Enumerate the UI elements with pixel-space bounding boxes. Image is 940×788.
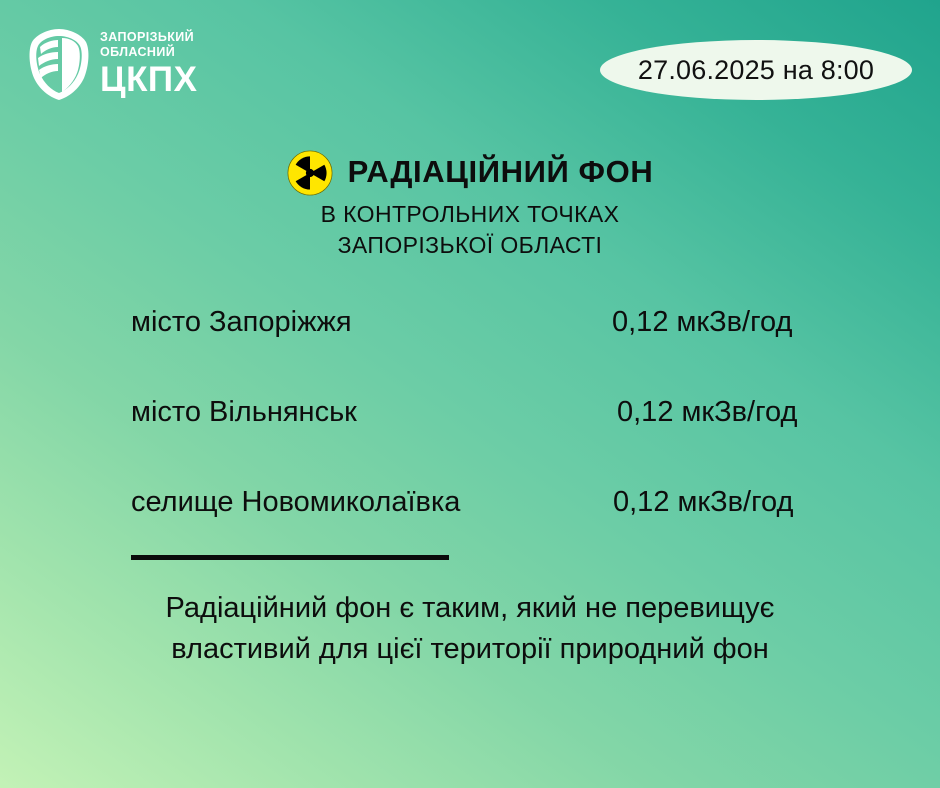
brand-acronym: ЦКПХ xyxy=(100,62,197,97)
reading-row: місто Запоріжжя 0,12 мкЗв/год xyxy=(0,296,940,386)
footer-note: Радіаційний фон є таким, який не перевищ… xyxy=(0,588,940,670)
brand-logo-text: ЗАПОРІЗЬКИЙ ОБЛАСНИЙ ЦКПХ xyxy=(100,26,197,97)
reading-place: місто Вільнянськ xyxy=(131,396,357,429)
date-badge: 27.06.2025 на 8:00 xyxy=(600,40,912,100)
radiation-trefoil-icon xyxy=(287,150,333,196)
title-row: РАДІАЦІЙНИЙ ФОН xyxy=(0,148,940,196)
section-divider xyxy=(131,555,449,560)
brand-line-1: ЗАПОРІЗЬКИЙ xyxy=(100,30,197,45)
reading-row: селище Новомиколаївка 0,12 мкЗв/год xyxy=(0,476,940,566)
reading-value: 0,12 мкЗв/год xyxy=(617,396,797,429)
footer-note-line-2: властивий для цієї території природний ф… xyxy=(0,629,940,670)
page-subtitle-line-1: В КОНТРОЛЬНИХ ТОЧКАХ xyxy=(0,200,940,230)
reading-value: 0,12 мкЗв/год xyxy=(613,486,793,519)
reading-row: місто Вільнянськ 0,12 мкЗв/год xyxy=(0,386,940,476)
poster-title-block: РАДІАЦІЙНИЙ ФОН В КОНТРОЛЬНИХ ТОЧКАХ ЗАП… xyxy=(0,148,940,261)
date-badge-text: 27.06.2025 на 8:00 xyxy=(638,55,874,86)
radiation-background-poster: ЗАПОРІЗЬКИЙ ОБЛАСНИЙ ЦКПХ 27.06.2025 на … xyxy=(0,0,940,788)
page-subtitle-line-2: ЗАПОРІЗЬКОЇ ОБЛАСТІ xyxy=(0,231,940,261)
reading-place: місто Запоріжжя xyxy=(131,306,352,339)
footer-note-line-1: Радіаційний фон є таким, який не перевищ… xyxy=(0,588,940,629)
readings-list: місто Запоріжжя 0,12 мкЗв/год місто Віль… xyxy=(0,296,940,566)
reading-value: 0,12 мкЗв/год xyxy=(612,306,792,339)
brand-line-2: ОБЛАСНИЙ xyxy=(100,45,197,60)
reading-place: селище Новомиколаївка xyxy=(131,486,460,519)
page-title: РАДІАЦІЙНИЙ ФОН xyxy=(348,154,654,190)
brand-logo: ЗАПОРІЗЬКИЙ ОБЛАСНИЙ ЦКПХ xyxy=(28,26,197,102)
shield-leaf-logo-icon xyxy=(28,26,90,102)
